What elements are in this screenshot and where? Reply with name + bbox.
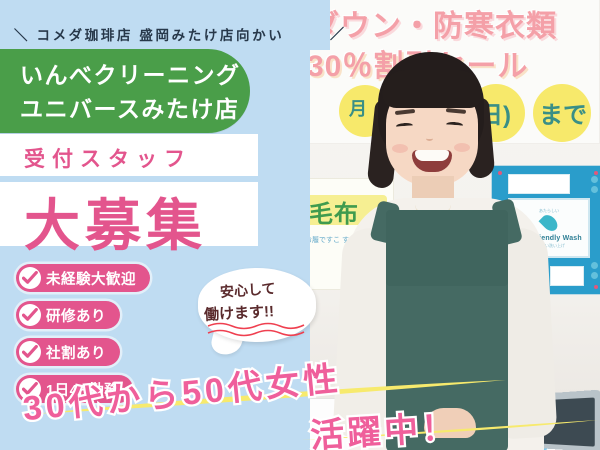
benefit-pill-1: 研修あり	[16, 301, 120, 329]
benefit-label-1: 研修あり	[46, 305, 106, 326]
eco-board-dots	[591, 176, 598, 196]
underline-squiggle	[206, 320, 310, 338]
benefit-label-2: 社割あり	[46, 342, 106, 363]
location-text: ＼ コメダ珈琲店 盛岡みたけ店向かい	[14, 24, 344, 44]
benefit-label-0: 未経験大歓迎	[46, 268, 136, 289]
check-circle-icon	[19, 267, 41, 289]
benefit-pill-2: 社割あり	[16, 338, 120, 366]
check-circle-icon	[19, 304, 41, 326]
eco-board-dots-2	[591, 262, 598, 282]
speech-bubble: 安心して 働けます!!	[198, 268, 316, 342]
role-label: 受付スタッフ	[24, 143, 192, 173]
location-label: コメダ珈琲店 盛岡みたけ店向かい	[36, 28, 284, 43]
brand-line-1: いんべクリーニング	[20, 56, 241, 90]
recruit-label: 大募集	[24, 181, 207, 262]
brand-banner: いんべクリーニング ユニバースみたけ店	[0, 49, 250, 133]
recruit-band: 大募集	[0, 182, 258, 246]
slash-left: ＼	[14, 28, 30, 43]
role-band: 受付スタッフ	[0, 134, 258, 176]
sale-poster-line1: ダウン・防寒衣類	[310, 1, 600, 45]
brand-line-2: ユニバースみたけ店	[20, 90, 239, 124]
bangs	[382, 70, 482, 108]
recruitment-ad: ダウン・防寒衣類 30％割引セール 月 14日 (日) まで 毛布 お履ですこ …	[0, 0, 600, 450]
benefit-pill-0: 未経験大歓迎	[16, 264, 150, 292]
check-circle-icon	[19, 341, 41, 363]
slash-right: ／	[330, 24, 344, 44]
speech-bubble-line-1: 安心して	[219, 278, 276, 302]
slogan-line-2: 活躍中！	[309, 400, 460, 450]
